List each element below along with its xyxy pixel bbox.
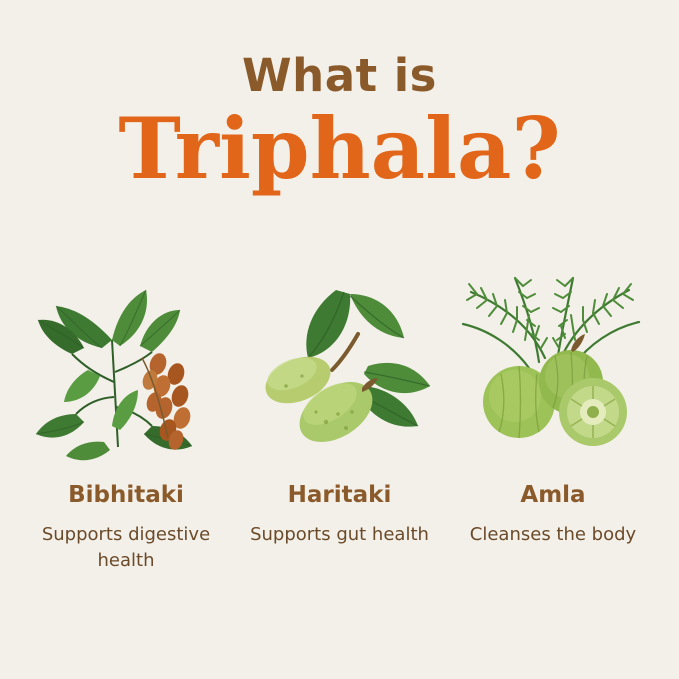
ingredient-card-amla: Amla Cleanses the body xyxy=(453,262,653,574)
ingredient-card-bibhitaki: Bibhitaki Supports digestive health xyxy=(26,262,226,574)
heading-block: What is Triphala? xyxy=(0,52,679,193)
bibhitaki-plant-illustration xyxy=(26,262,226,467)
ingredient-title: Amla xyxy=(520,483,585,508)
infographic-page: What is Triphala? xyxy=(0,0,679,679)
ingredient-title: Bibhitaki xyxy=(68,483,184,508)
ingredient-description: Supports digestive health xyxy=(31,522,221,574)
amla-fruit-illustration xyxy=(453,262,653,467)
ingredient-columns: Bibhitaki Supports digestive health xyxy=(0,262,679,574)
page-title-line1: What is xyxy=(0,52,679,99)
page-title-line2: Triphala? xyxy=(0,105,679,193)
haritaki-fruit-illustration xyxy=(240,262,440,467)
ingredient-description: Cleanses the body xyxy=(470,522,636,548)
ingredient-title: Haritaki xyxy=(288,483,392,508)
ingredient-card-haritaki: Haritaki Supports gut health xyxy=(240,262,440,574)
ingredient-description: Supports gut health xyxy=(250,522,429,548)
